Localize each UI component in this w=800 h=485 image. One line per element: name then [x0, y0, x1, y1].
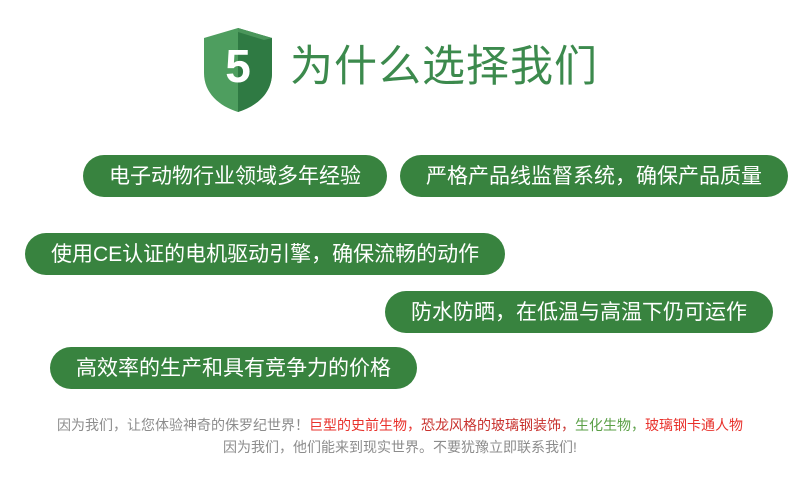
feature-pill: 高效率的生产和具有竞争力的价格: [50, 347, 417, 389]
footer-keyword-cartoon: 玻璃钢卡通人物: [645, 417, 743, 433]
footer-line-2: 因为我们，他们能来到现实世界。不要犹豫立即联系我们!: [0, 436, 800, 458]
footer-keyword-prehistoric: 巨型的史前生物，: [309, 417, 421, 433]
footer-intro-text: 因为我们，让您体验神奇的侏罗纪世界！: [57, 417, 309, 433]
footer-text: 因为我们，让您体验神奇的侏罗纪世界！巨型的史前生物，恐龙风格的玻璃钢装饰，生化生…: [0, 414, 800, 458]
feature-pill: 防水防晒，在低温与高温下仍可运作: [385, 291, 773, 333]
footer-contact-text: 因为我们，他们能来到现实世界。不要犹豫立即联系我们!: [223, 439, 577, 455]
feature-list: 电子动物行业领域多年经验 严格产品线监督系统，确保产品质量 使用CE认证的电机驱…: [0, 0, 800, 485]
footer-line-1: 因为我们，让您体验神奇的侏罗纪世界！巨型的史前生物，恐龙风格的玻璃钢装饰，生化生…: [0, 414, 800, 436]
footer-keyword-biological: 生化生物，: [575, 417, 645, 433]
footer-keyword-dinosaur-decor: 恐龙风格的玻璃钢装饰，: [421, 417, 575, 433]
feature-pill: 使用CE认证的电机驱动引擎，确保流畅的动作: [25, 233, 505, 275]
feature-pill: 电子动物行业领域多年经验: [83, 155, 387, 197]
feature-pill: 严格产品线监督系统，确保产品质量: [400, 155, 788, 197]
